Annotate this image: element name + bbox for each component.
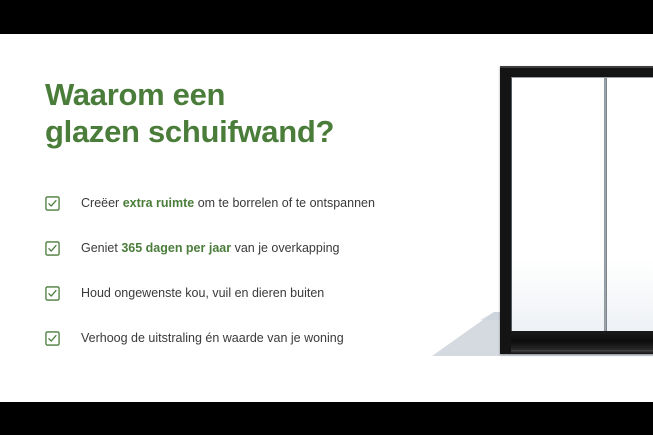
- checkbox-checked-icon: [45, 241, 60, 256]
- list-item-text-post: van je overkapping: [231, 241, 339, 255]
- door-mullion: [604, 78, 607, 331]
- sliding-door: [500, 66, 653, 354]
- list-item-text-highlight: extra ruimte: [123, 196, 195, 210]
- list-item-text: Geniet 365 dagen per jaar van je overkap…: [81, 240, 340, 256]
- page-title-line-2: glazen schuifwand?: [45, 113, 465, 150]
- list-item: Geniet 365 dagen per jaar van je overkap…: [45, 237, 465, 259]
- checkbox-checked-icon: [45, 196, 60, 211]
- list-item-text: Verhoog de uitstraling én waarde van je …: [81, 330, 344, 346]
- letterbox-bar-top: [0, 0, 653, 34]
- door-glass-panel: [512, 78, 653, 331]
- glazen-schuifwand-photo: [430, 34, 653, 402]
- slide-content-area: Waarom een glazen schuifwand? Creëer ext…: [0, 34, 653, 402]
- list-item-text: Houd ongewenste kou, vuil en dieren buit…: [81, 285, 324, 301]
- checkbox-checked-icon: [45, 286, 60, 301]
- list-item: Creëer extra ruimte om te borrelen of te…: [45, 192, 465, 214]
- list-item-text-pre: Creëer: [81, 196, 123, 210]
- page-title-line-1: Waarom een: [45, 76, 465, 113]
- benefits-list: Creëer extra ruimte om te borrelen of te…: [45, 192, 465, 372]
- checkbox-checked-icon: [45, 331, 60, 346]
- page-title: Waarom een glazen schuifwand?: [45, 76, 465, 150]
- frame-top-highlight: [500, 66, 653, 68]
- list-item-text-post: om te borrelen of te ontspannen: [194, 196, 375, 210]
- slide-canvas: Waarom een glazen schuifwand? Creëer ext…: [0, 0, 653, 435]
- list-item-text-highlight: 365 dagen per jaar: [121, 241, 231, 255]
- door-sill: [511, 331, 653, 350]
- list-item-text-pre: Verhoog de uitstraling én waarde van je …: [81, 331, 344, 345]
- list-item: Houd ongewenste kou, vuil en dieren buit…: [45, 282, 465, 304]
- list-item-text-pre: Geniet: [81, 241, 121, 255]
- letterbox-bar-bottom: [0, 402, 653, 435]
- list-item-text-pre: Houd ongewenste kou, vuil en dieren buit…: [81, 286, 324, 300]
- list-item-text: Creëer extra ruimte om te borrelen of te…: [81, 195, 375, 211]
- door-sill-edge: [511, 350, 653, 354]
- list-item: Verhoog de uitstraling én waarde van je …: [45, 327, 465, 349]
